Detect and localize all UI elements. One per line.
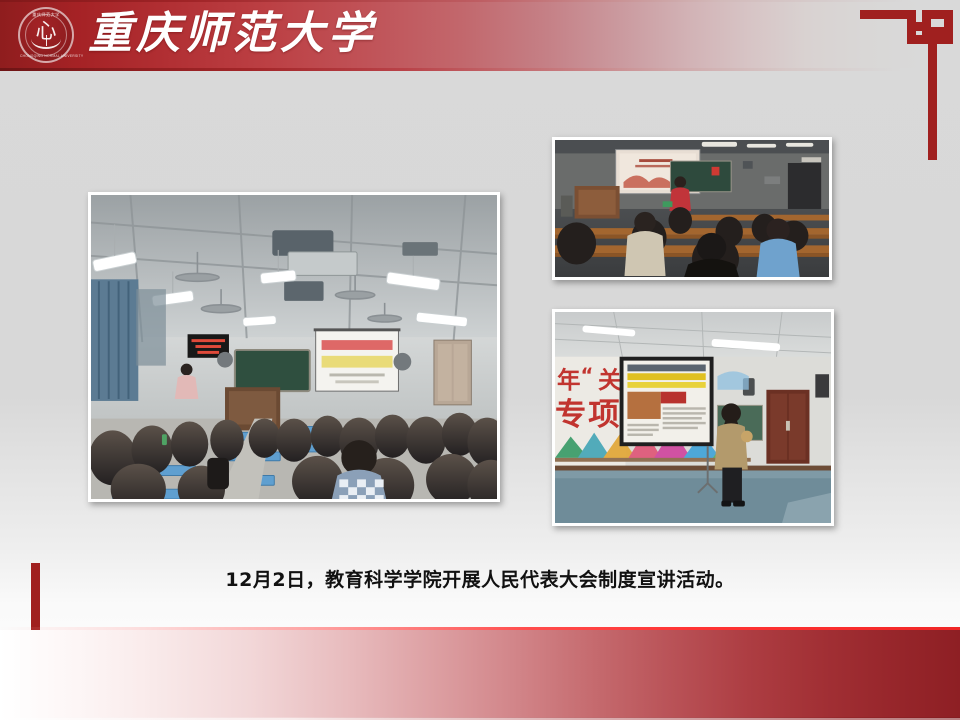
university-seal-logo: 重庆师范大学 心 CHONGQING NORMAL UNIVERSITY	[18, 7, 74, 63]
photo-classroom-speaker	[552, 137, 832, 280]
svg-text:关: 关	[598, 366, 622, 394]
seal-bottom-text: CHONGQING NORMAL UNIVERSITY	[20, 54, 72, 58]
presentation-slide: 重庆师范大学 心 CHONGQING NORMAL UNIVERSITY 重庆师…	[0, 0, 960, 720]
header-bottom-rule	[0, 68, 960, 71]
footer-band	[0, 630, 960, 718]
header-top-rule	[0, 0, 960, 2]
photo-lecture-hall-wide	[88, 192, 500, 502]
seal-top-text: 重庆师范大学	[20, 12, 72, 18]
svg-text:项: 项	[588, 397, 619, 433]
photo-projector-presentation: 年 “ 关 专 项	[552, 309, 834, 526]
svg-text:“: “	[580, 364, 593, 387]
slide-caption: 12月2日，教育科学学院开展人民代表大会制度宣讲活动。	[0, 565, 960, 592]
svg-text:年: 年	[557, 366, 580, 394]
svg-text:专: 专	[555, 397, 586, 433]
page-title: 重庆师范大学	[88, 6, 376, 62]
decorative-corner-top-right-icon	[860, 8, 960, 173]
